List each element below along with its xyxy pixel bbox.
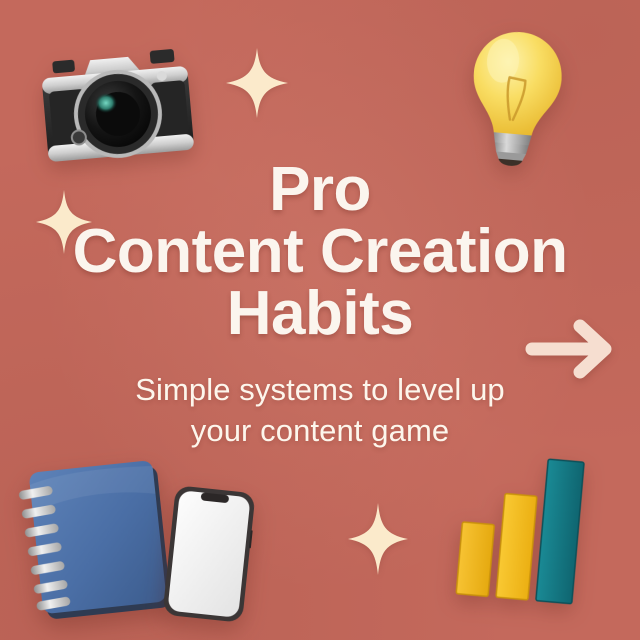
headline-line-1: Pro bbox=[0, 160, 640, 220]
social-post-canvas: Pro Content Creation Habits Simple syste… bbox=[0, 0, 640, 640]
sparkle-icon bbox=[226, 48, 288, 118]
light-bulb-icon bbox=[456, 22, 576, 171]
arrow-right-icon[interactable] bbox=[524, 316, 620, 382]
headline-block: Pro Content Creation Habits Simple syste… bbox=[0, 160, 640, 452]
subtitle-line-1: Simple systems to level up bbox=[85, 370, 555, 411]
notebook-icon bbox=[16, 453, 182, 628]
bar-chart-icon bbox=[449, 446, 614, 615]
sparkle-icon bbox=[348, 503, 408, 575]
smartphone-icon bbox=[161, 484, 256, 624]
subtitle-block: Simple systems to level up your content … bbox=[85, 370, 555, 452]
subtitle-line-2: your content game bbox=[85, 411, 555, 452]
headline-line-2: Content Creation bbox=[0, 222, 640, 282]
camera-icon bbox=[30, 27, 203, 179]
